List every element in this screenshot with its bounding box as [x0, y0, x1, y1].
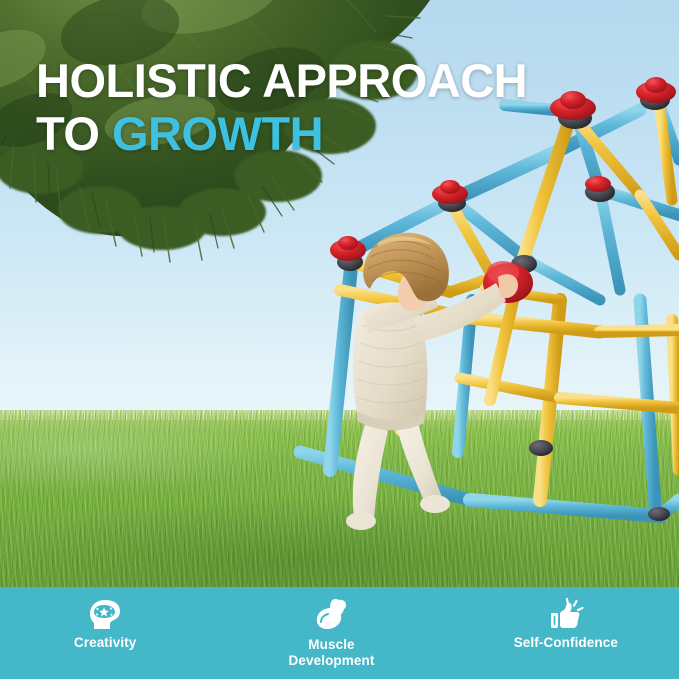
brain-head-icon [85, 595, 125, 633]
feature-item-muscle-development: Muscle Development [218, 587, 444, 669]
headline-accent-word: GROWTH [112, 107, 323, 160]
feature-label-muscle-development: Muscle Development [289, 637, 375, 669]
feature-bar: Creativity Muscle Development [0, 587, 679, 679]
headline-line-1: HOLISTIC APPROACH [36, 58, 636, 104]
feature-label-self-confidence: Self-Confidence [514, 635, 618, 651]
product-lifestyle-image: HOLISTIC APPROACH TO GROWTH [0, 0, 679, 679]
headline-line-2: TO GROWTH [36, 111, 636, 157]
feature-item-creativity: Creativity [0, 587, 218, 651]
thumbs-up-icon [546, 595, 586, 633]
feature-item-self-confidence: Self-Confidence [453, 587, 679, 651]
headline-line-2-prefix: TO [36, 107, 112, 160]
flexed-bicep-icon [311, 595, 351, 633]
feature-label-creativity: Creativity [74, 635, 137, 651]
headline: HOLISTIC APPROACH TO GROWTH [36, 58, 636, 156]
